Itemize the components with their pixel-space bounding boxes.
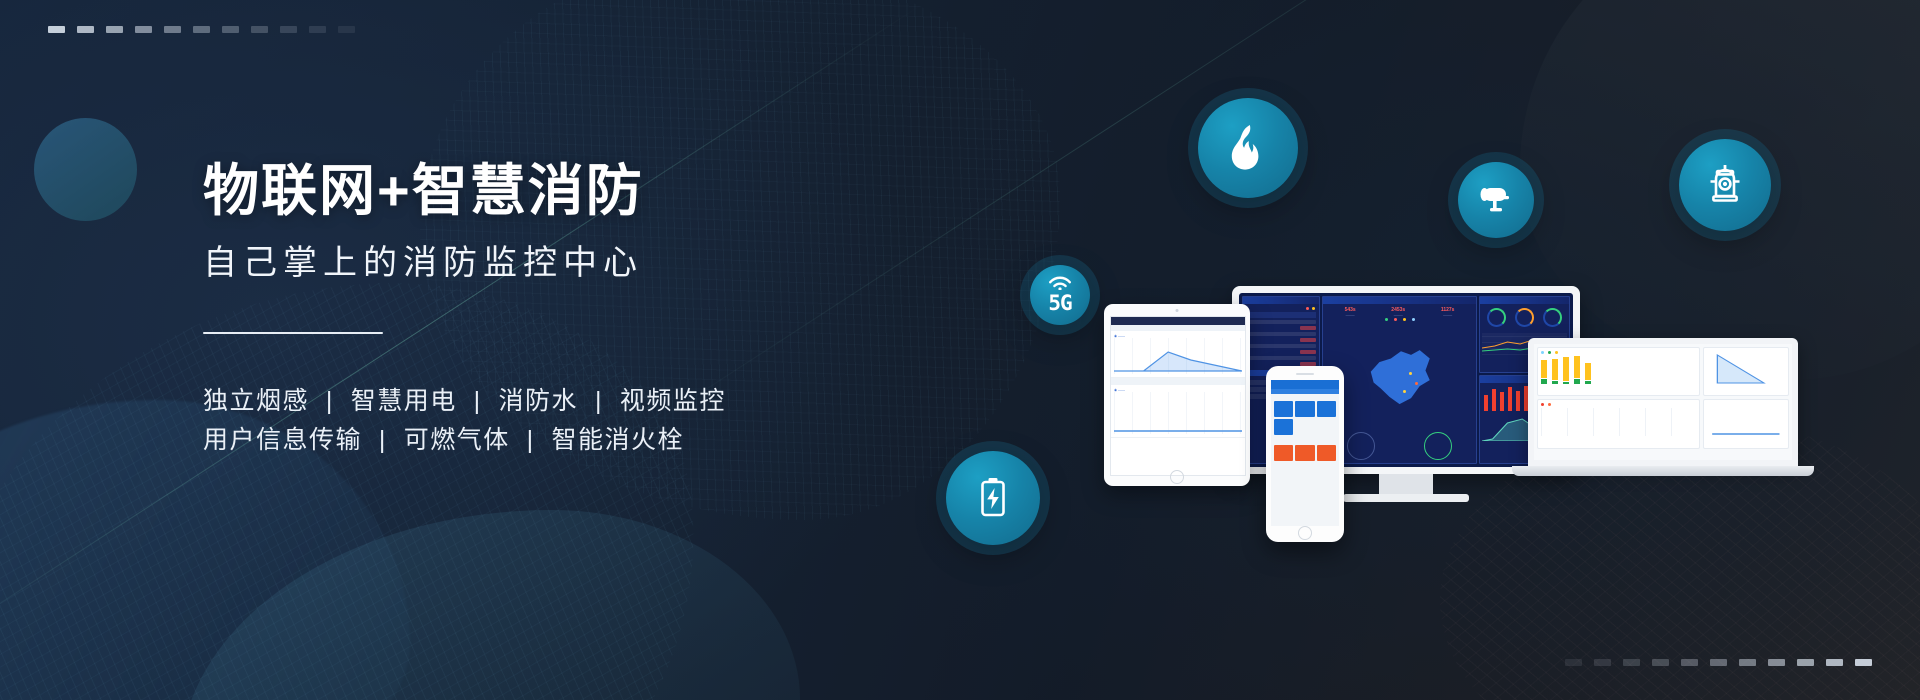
laptop-mockup (1528, 338, 1798, 488)
device-mockups: 543s ——— 2453s ——— 1127s ——— (1120, 280, 1800, 580)
bottom-right-dash-row (1565, 659, 1872, 666)
dash-mark (164, 26, 181, 33)
phone-tile[interactable] (1317, 401, 1336, 417)
dash-mark (1739, 659, 1756, 666)
dash-mark (1797, 659, 1814, 666)
tablet-camera-icon (1176, 309, 1179, 312)
tablet-home-button[interactable] (1170, 470, 1184, 484)
stat-label: ——— (1345, 313, 1356, 317)
dash-mark (309, 26, 326, 33)
laptop-base (1512, 466, 1814, 476)
dash-mark (1855, 659, 1872, 666)
dash-mark (106, 26, 123, 33)
dash-mark (1623, 659, 1640, 666)
dash-mark (1768, 659, 1785, 666)
dash-mark (1681, 659, 1698, 666)
feature-list: 独立烟感 | 智慧用电 | 消防水 | 视频监控 用户信息传输 | 可燃气体 |… (203, 382, 923, 461)
phone-speaker (1296, 373, 1314, 375)
tablet-app-header (1111, 317, 1245, 325)
bar-chart (1541, 356, 1696, 384)
stat-label: ——— (1391, 313, 1405, 317)
top-left-dash-row (48, 26, 355, 33)
panel-header (1323, 297, 1477, 304)
dash-mark (193, 26, 210, 33)
hero-copy: 物联网+智慧消防 自己掌上的消防监控中心 独立烟感 | 智慧用电 | 消防水 |… (203, 160, 923, 461)
dash-mark (135, 26, 152, 33)
page-subtitle: 自己掌上的消防监控中心 (203, 243, 923, 284)
gauge-chart (1487, 308, 1506, 327)
phone-tile[interactable] (1274, 445, 1293, 461)
phone-tile-grid-blue (1271, 398, 1339, 438)
dash-mark (1652, 659, 1669, 666)
tablet-mockup: ◉ —— ◉ —— (1104, 304, 1250, 486)
hero-banner: 物联网+智慧消防 自己掌上的消防监控中心 独立烟感 | 智慧用电 | 消防水 |… (0, 0, 1920, 700)
dash-mark (1594, 659, 1611, 666)
dash-mark (1565, 659, 1582, 666)
dash-mark (280, 26, 297, 33)
phone-tile[interactable] (1317, 445, 1336, 461)
gauge-chart (1543, 308, 1562, 327)
line-chart (1707, 403, 1785, 437)
phone-tile[interactable] (1295, 401, 1314, 417)
phone-home-button[interactable] (1298, 526, 1312, 540)
tablet-screen-report: ◉ —— ◉ —— (1110, 316, 1246, 476)
laptop-bottom-chart-card (1703, 399, 1789, 449)
divider-rule (203, 332, 383, 334)
monitor-stand-base (1343, 494, 1469, 502)
dash-mark (1826, 659, 1843, 666)
laptop-screen-analytics (1534, 344, 1792, 460)
legend-dot (1312, 307, 1315, 310)
fire-flame-icon[interactable] (1198, 98, 1298, 198)
china-map-shape (1364, 347, 1436, 407)
dash-mark (222, 26, 239, 33)
tablet-chart-section: ◉ —— (1111, 331, 1245, 378)
line-chart (1114, 338, 1242, 374)
bottom-center-blob-shape (180, 510, 800, 700)
phone-tile-grid-orange (1271, 442, 1339, 464)
dash-mark (1710, 659, 1727, 666)
monitor-stand-neck (1379, 474, 1433, 496)
feature-line: 用户信息传输 | 可燃气体 | 智能消火栓 (203, 421, 923, 461)
line-chart (1114, 392, 1242, 434)
fire-hydrant-icon[interactable] (1679, 139, 1771, 231)
laptop-grid-chart-card (1537, 399, 1700, 449)
5g-signal-icon[interactable]: 5G (1030, 265, 1090, 325)
dash-mark (251, 26, 268, 33)
laptop-bar-chart-card (1537, 347, 1700, 396)
decorative-circle (34, 118, 137, 221)
area-chart (1707, 351, 1785, 387)
phone-app-header (1271, 380, 1339, 389)
page-title: 物联网+智慧消防 (203, 160, 923, 223)
phone-screen-console (1271, 380, 1339, 526)
phone-tile[interactable] (1295, 445, 1314, 461)
panel-header (1480, 297, 1569, 304)
panel-header (1243, 297, 1319, 304)
phone-mockup (1266, 366, 1344, 542)
china-map-visual (1323, 321, 1477, 432)
laptop-lid (1528, 338, 1798, 466)
laptop-area-chart-card (1703, 347, 1789, 396)
tablet-chart-section-2: ◉ —— (1111, 385, 1245, 438)
phone-tile[interactable] (1274, 419, 1293, 435)
gauge-chart (1515, 308, 1534, 327)
5g-label: 5G (1048, 293, 1071, 314)
dash-mark (77, 26, 94, 33)
feature-line: 独立烟感 | 智慧用电 | 消防水 | 视频监控 (203, 382, 923, 422)
dash-mark (338, 26, 355, 33)
stat-label: ——— (1441, 313, 1455, 317)
dash-mark (48, 26, 65, 33)
legend-dot (1306, 307, 1309, 310)
battery-bolt-icon[interactable] (946, 451, 1040, 545)
cctv-camera-icon[interactable] (1458, 162, 1534, 238)
phone-tile[interactable] (1274, 401, 1293, 417)
